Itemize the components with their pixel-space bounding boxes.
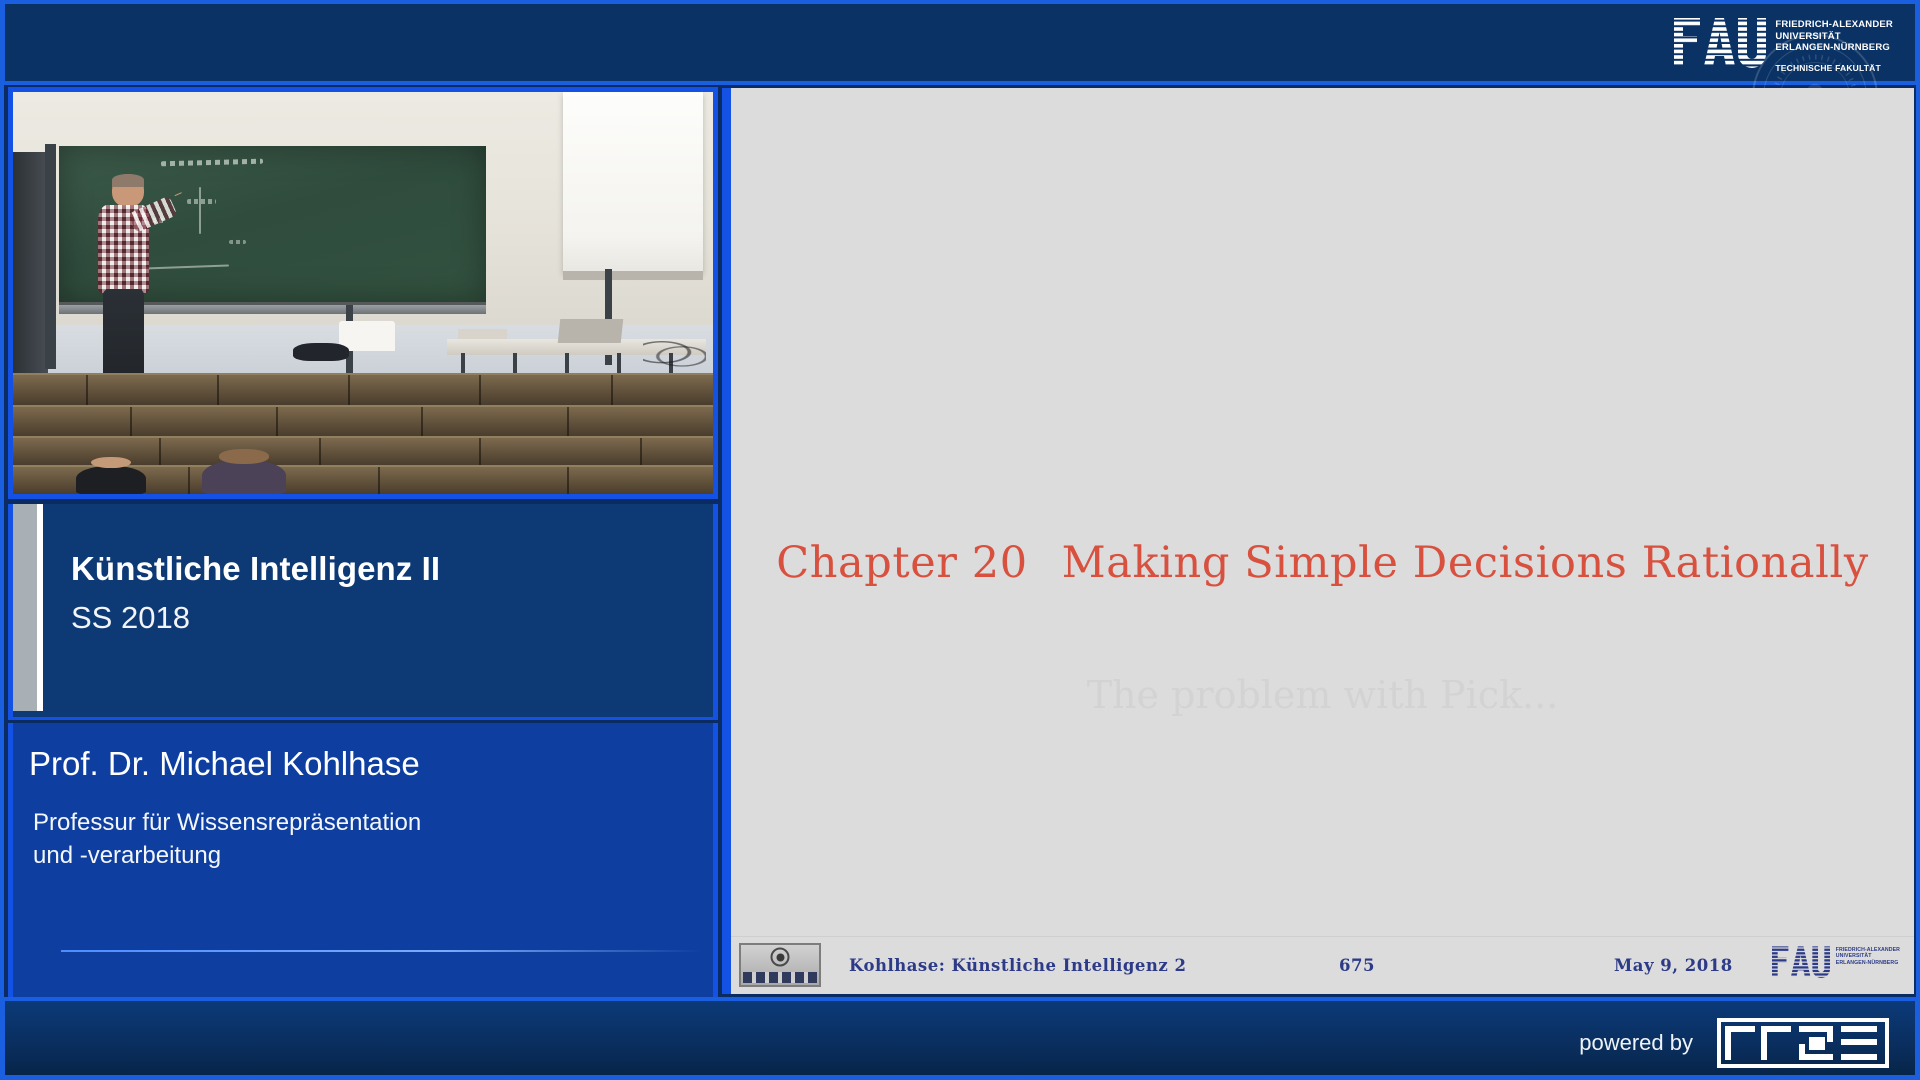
- seat-divider: [86, 375, 88, 404]
- seating-area: [13, 373, 713, 494]
- seat-divider: [421, 407, 423, 436]
- badge-strip: [743, 972, 817, 983]
- chalk-writing: [229, 240, 246, 245]
- laptop: [558, 319, 624, 343]
- left-column: Künstliche Intelligenz II SS 2018 Prof. …: [0, 85, 718, 997]
- seat-divider: [188, 467, 190, 494]
- fau-footer-org-line3: ERLANGEN-NÜRNBERG: [1836, 960, 1900, 966]
- lecture-hall-video[interactable]: [8, 87, 718, 499]
- header-background: [5, 4, 1915, 81]
- seat-divider: [567, 467, 569, 494]
- ghost-text-line1: The problem with Pick...: [731, 673, 1914, 717]
- student: [76, 466, 146, 494]
- seat-divider: [567, 407, 569, 436]
- seat-divider: [276, 407, 278, 436]
- slide-viewer[interactable]: Chapter 20Making Simple Decisions Ration…: [722, 88, 1914, 994]
- projection-screen: [563, 92, 703, 273]
- accent-bar: [13, 504, 43, 711]
- course-title: Künstliche Intelligenz II: [71, 550, 440, 588]
- course-info-panel: Künstliche Intelligenz II SS 2018: [8, 504, 718, 720]
- presenter-department-line1: Professur für Wissensrepräsentation: [33, 809, 421, 836]
- page-footer: powered by: [0, 997, 1920, 1080]
- bag: [293, 343, 349, 361]
- seat-row: [13, 373, 713, 404]
- presenter-department: Professur für Wissensrepräsentation und …: [33, 807, 683, 872]
- slide-page-number: 675: [1339, 956, 1375, 975]
- slide-footer-course: Kohlhase: Künstliche Intelligenz 2: [849, 956, 1187, 975]
- fau-org-line2: UNIVERSITÄT: [1775, 31, 1893, 43]
- fau-logo-footer: FRIEDRICH-ALEXANDER UNIVERSITÄT ERLANGEN…: [1772, 945, 1900, 978]
- projection-screen-bar: [563, 271, 703, 280]
- chalk-writing: [161, 159, 264, 167]
- slide-title: Chapter 20Making Simple Decisions Ration…: [731, 538, 1914, 588]
- student: [202, 460, 286, 494]
- fau-logo-text: FRIEDRICH-ALEXANDER UNIVERSITÄT ERLANGEN…: [1775, 19, 1893, 73]
- fau-faculty-line: TECHNISCHE FAKULTÄT: [1775, 63, 1893, 73]
- fau-wordmark-icon: [1772, 945, 1830, 978]
- seat-divider: [378, 467, 380, 494]
- lecturer-hair: [112, 174, 144, 186]
- presenter-department-line2: und -verarbeitung: [33, 842, 221, 869]
- badge-ring: [771, 948, 790, 967]
- seat-divider: [348, 375, 350, 404]
- side-cabinet: [13, 152, 48, 377]
- slide-canvas: Chapter 20Making Simple Decisions Ration…: [731, 88, 1914, 994]
- fau-logo-footer-text: FRIEDRICH-ALEXANDER UNIVERSITÄT ERLANGEN…: [1836, 947, 1900, 966]
- seat-divider: [130, 407, 132, 436]
- fau-logo: FRIEDRICH-ALEXANDER UNIVERSITÄT ERLANGEN…: [1674, 16, 1893, 73]
- presenter-panel: Prof. Dr. Michael Kohlhase Professur für…: [8, 723, 718, 997]
- seat-divider: [217, 375, 219, 404]
- lecturer: [94, 174, 164, 379]
- slide-chapter-label: Chapter 20: [776, 538, 1027, 588]
- slide-footer: Kohlhase: Künstliche Intelligenz 2 675 M…: [731, 936, 1914, 994]
- fau-org-line3: ERLANGEN-NÜRNBERG: [1775, 42, 1893, 54]
- chalk-writing: [187, 199, 217, 204]
- lecturer-legs: [103, 289, 144, 379]
- wall-post: [45, 144, 56, 369]
- powered-by-label: powered by: [1579, 1030, 1693, 1056]
- course-term: SS 2018: [71, 600, 190, 636]
- video-scene: [13, 92, 713, 494]
- seat-divider: [640, 438, 642, 465]
- chalk-writing: [199, 187, 201, 234]
- seat-divider: [159, 438, 161, 465]
- seat-divider: [611, 375, 613, 404]
- fau-org-line1: FRIEDRICH-ALEXANDER: [1775, 19, 1893, 31]
- rrze-logo-icon: [1717, 1018, 1889, 1068]
- slide-footer-date: May 9, 2018: [1614, 956, 1733, 975]
- divider: [61, 950, 701, 952]
- presenter-name: Prof. Dr. Michael Kohlhase: [29, 745, 420, 783]
- seat-divider: [319, 438, 321, 465]
- slide-heading-label: Making Simple Decisions Rationally: [1062, 538, 1869, 588]
- cables: [643, 341, 706, 369]
- seat-divider: [479, 438, 481, 465]
- fau-wordmark-icon: [1674, 16, 1766, 68]
- page-header: FRIEDRICH-ALEXANDER UNIVERSITÄT ERLANGEN…: [0, 0, 1920, 85]
- seat-row: [13, 405, 713, 436]
- video-player-page: FRIEDRICH-ALEXANDER UNIVERSITÄT ERLANGEN…: [0, 0, 1920, 1080]
- institution-badge-icon: [739, 943, 821, 987]
- seat-divider: [479, 375, 481, 404]
